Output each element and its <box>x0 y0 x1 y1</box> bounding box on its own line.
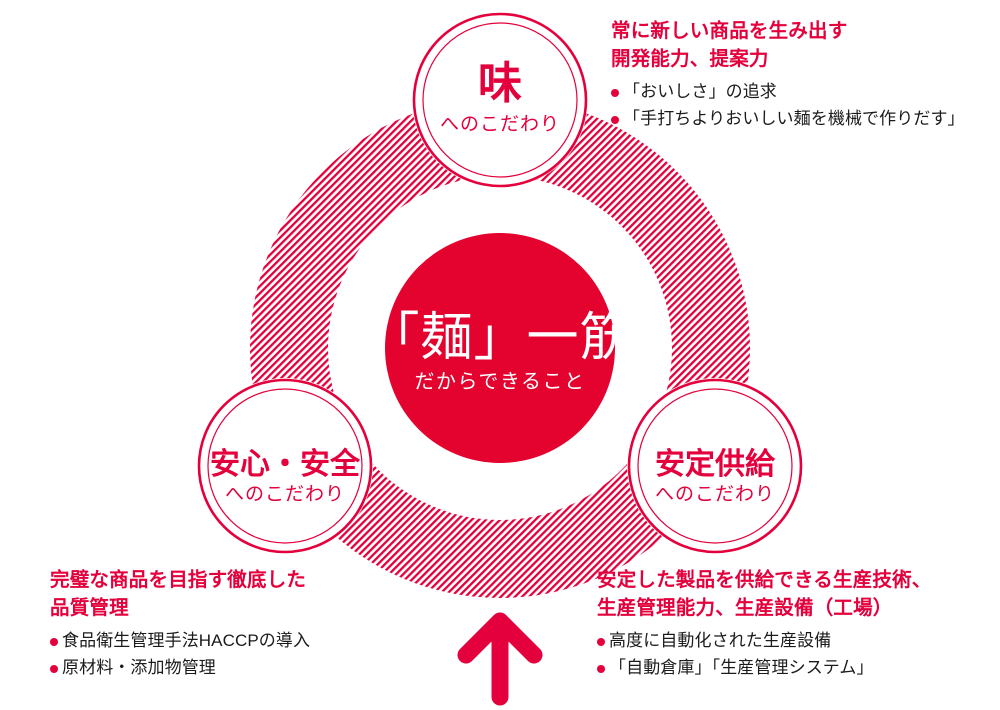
node-subtitle-supply: へのこだわり <box>655 484 775 505</box>
node-circle-supply[interactable]: 安定供給 へのこだわり <box>629 380 801 552</box>
callout-supply: 安定した製品を供給できる生産技術、 生産管理能力、生産設備（工場） 高度に自動化… <box>597 567 997 681</box>
list-item: 食品衛生管理手法HACCPの導入 <box>50 628 400 655</box>
list-item: 「おいしさ」の追求 <box>611 79 1000 106</box>
bullet-dot-icon <box>611 116 619 124</box>
node-title-supply: 安定供給 <box>655 447 776 481</box>
list-item: 高度に自動化された生産設備 <box>597 628 997 655</box>
bullet-dot-icon <box>50 638 58 646</box>
bullet-label: 「手打ちよりおいしい麺を機械で作りだす」 <box>623 106 1000 133</box>
callout-supply-heading: 安定した製品を供給できる生産技術、 生産管理能力、生産設備（工場） <box>597 567 997 622</box>
list-item: 原材料・添加物管理 <box>50 655 400 682</box>
bullet-dot-icon <box>50 665 58 673</box>
bullet-dot-icon <box>611 89 619 97</box>
node-circle-safety[interactable]: 安心・安全 へのこだわり <box>199 380 371 552</box>
bullet-label: 原材料・添加物管理 <box>62 655 400 682</box>
bullet-label: 「自動倉庫」「生産管理システム」 <box>609 655 997 682</box>
node-subtitle-taste: へのこだわり <box>440 114 560 135</box>
callout-taste-heading: 常に新しい商品を生み出す 開発能力、提案力 <box>611 18 1000 73</box>
bullet-label: 高度に自動化された生産設備 <box>609 628 997 655</box>
callout-quality-bullets: 食品衛生管理手法HACCPの導入 原材料・添加物管理 <box>50 628 400 681</box>
bullet-label: 食品衛生管理手法HACCPの導入 <box>62 628 400 655</box>
node-subtitle-safety: へのこだわり <box>225 484 345 505</box>
bullet-dot-icon <box>597 665 605 673</box>
callout-taste-bullets: 「おいしさ」の追求 「手打ちよりおいしい麺を機械で作りだす」 <box>611 79 1000 132</box>
node-title-taste: 味 <box>478 59 522 108</box>
core-subtitle: だからできること <box>415 371 586 393</box>
callout-quality: 完璧な商品を目指す徹底した 品質管理 食品衛生管理手法HACCPの導入 原材料・… <box>50 567 400 681</box>
callout-supply-bullets: 高度に自動化された生産設備 「自動倉庫」「生産管理システム」 <box>597 628 997 681</box>
bullet-label: 「おいしさ」の追求 <box>623 79 1000 106</box>
list-item: 「手打ちよりおいしい麺を機械で作りだす」 <box>611 106 1000 133</box>
node-title-safety: 安心・安全 <box>210 447 361 481</box>
node-circle-taste[interactable]: 味 へのこだわり <box>414 14 586 186</box>
callout-taste: 常に新しい商品を生み出す 開発能力、提案力 「おいしさ」の追求 「手打ちよりおい… <box>611 18 1000 132</box>
bullet-dot-icon <box>597 638 605 646</box>
core-title: 「麺」一筋 <box>367 310 632 367</box>
callout-quality-heading: 完璧な商品を目指す徹底した 品質管理 <box>50 567 400 622</box>
list-item: 「自動倉庫」「生産管理システム」 <box>597 655 997 682</box>
